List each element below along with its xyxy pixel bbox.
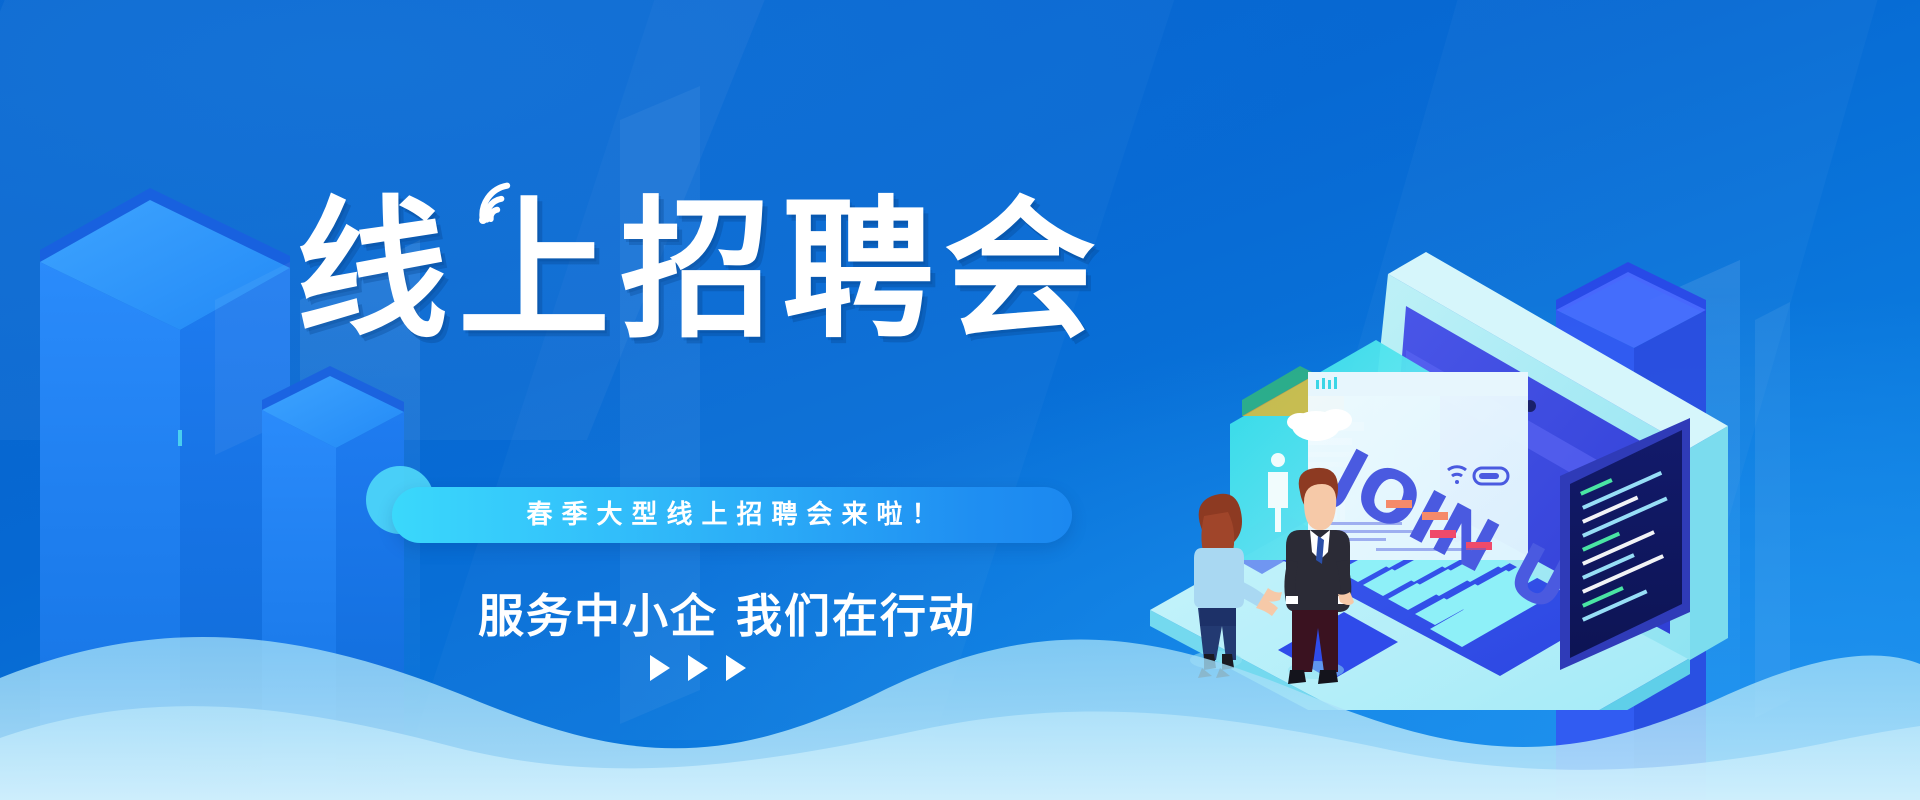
subtitle-pill-label: 春季大型线上招聘会来啦！	[392, 487, 1072, 543]
wave-decoration	[0, 620, 1920, 800]
wifi-icon	[464, 172, 526, 234]
headline-block: 线上招聘会	[296, 196, 1236, 366]
page-title: 线上招聘会	[296, 196, 1236, 346]
subtitle-pill: 春季大型线上招聘会来啦！	[392, 487, 1072, 543]
recruitment-banner: JOIN US	[0, 0, 1920, 800]
